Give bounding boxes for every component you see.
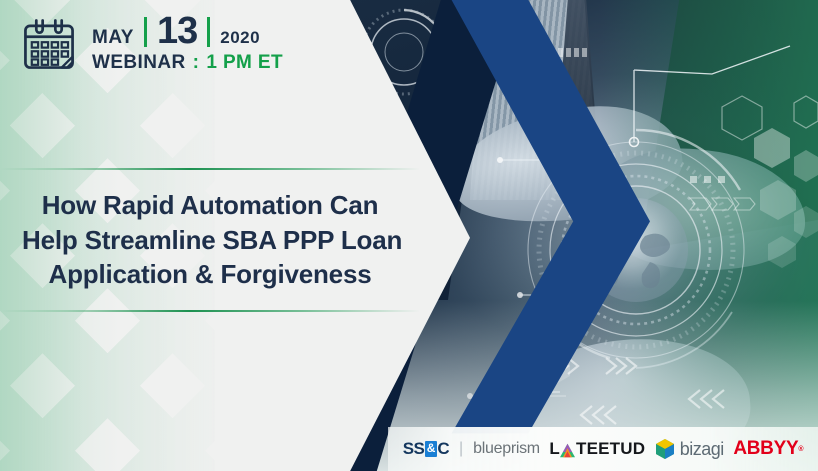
bizagi-logo[interactable]: bizagi [655, 439, 724, 460]
event-time: 1 PM ET [206, 52, 283, 74]
ssc-part-1: SS [403, 439, 424, 459]
title-line-1: How Rapid Automation Can [22, 188, 398, 223]
ssc-wordmark: SS&C [403, 439, 449, 459]
lateetud-logo[interactable]: L TEETUD [549, 439, 645, 459]
abbyy-wordmark: ABBYY [733, 438, 798, 460]
abbyy-logo[interactable]: ABBYY® [733, 438, 803, 460]
event-date-block: MAY 13 2020 WEBINAR : 1 PM ET [20, 14, 283, 74]
abbyy-trademark: ® [798, 446, 803, 453]
event-type-label: WEBINAR [92, 52, 186, 74]
event-time-line: WEBINAR : 1 PM ET [92, 52, 283, 74]
date-separator-2 [207, 17, 210, 47]
ssc-part-2: C [437, 439, 449, 459]
date-year: 2020 [220, 28, 260, 48]
title-line-2: Help Streamline SBA PPP Loan [22, 223, 398, 258]
time-separator: : [193, 52, 200, 74]
title-rule-top [0, 168, 420, 170]
date-separator-1 [144, 17, 147, 47]
title-section: How Rapid Automation Can Help Streamline… [0, 168, 420, 312]
page-title: How Rapid Automation Can Help Streamline… [0, 188, 420, 292]
calendar-icon [20, 15, 78, 73]
sponsor-logo-bar: SS&C | blueprism L TEETUD bizagi [388, 427, 818, 471]
ssc-ampersand: & [425, 441, 437, 457]
hexagon-mark [655, 439, 675, 460]
ssc-divider: | [459, 440, 463, 458]
date-day: 13 [157, 14, 197, 49]
title-line-3: Application & Forgiveness [22, 257, 398, 292]
ssc-blueprism-logo[interactable]: SS&C | blueprism [403, 439, 540, 459]
lateetud-prefix: L [549, 439, 560, 459]
bizagi-wordmark: bizagi [680, 439, 724, 460]
lateetud-suffix: TEETUD [576, 439, 645, 459]
date-month: MAY [92, 27, 134, 49]
blueprism-wordmark: blueprism [473, 440, 540, 458]
webinar-banner: MAY 13 2020 WEBINAR : 1 PM ET How Rapid … [0, 0, 818, 471]
title-rule-bottom [0, 310, 420, 312]
triangle-a-mark [560, 443, 575, 458]
date-line: MAY 13 2020 [92, 14, 283, 49]
